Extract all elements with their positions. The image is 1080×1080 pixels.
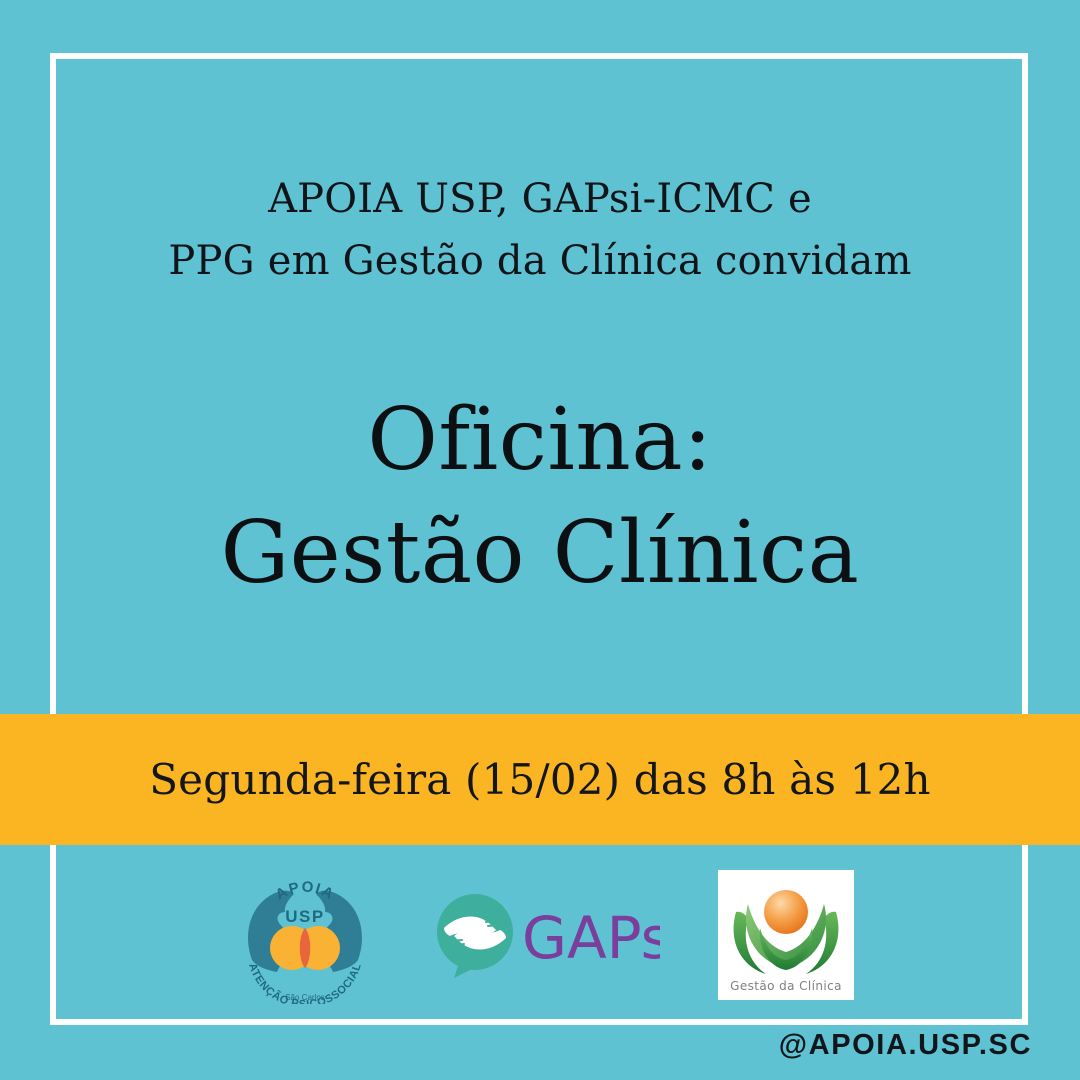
title-line-2: Gestão Clínica	[0, 494, 1080, 612]
gestao-caption-text: Gestão da Clínica	[730, 979, 842, 993]
gapsi-logo: GAPsi	[430, 888, 660, 980]
gapsi-wordmark-text: GAPsi	[522, 904, 660, 972]
social-handle: @APOIA.USP.SC	[779, 1029, 1032, 1062]
apoia-location-text: São Carlos	[285, 993, 325, 1002]
date-time-text: Segunda-feira (15/02) das 8h às 12h	[149, 755, 931, 804]
header-block: APOIA USP, GAPsi-ICMC e PPG em Gestão da…	[0, 168, 1080, 292]
svg-text:APOIA: APOIA	[273, 878, 338, 903]
title-line-1: Oficina:	[0, 386, 1080, 494]
page-title: Oficina: Gestão Clínica	[0, 386, 1080, 612]
gestao-da-clinica-logo: Gestão da Clínica	[718, 870, 854, 1000]
date-time-banner: Segunda-feira (15/02) das 8h às 12h	[0, 714, 1080, 845]
usp-text: USP	[285, 907, 324, 926]
header-line-2: PPG em Gestão da Clínica convidam	[0, 230, 1080, 292]
logo-row: APOIA USP ATENÇÃO PSICOSSOCIAL São Carlo…	[0, 862, 1080, 1012]
apoia-arc-text: APOIA	[273, 878, 338, 903]
header-line-1: APOIA USP, GAPsi-ICMC e	[0, 168, 1080, 230]
apoia-usp-logo: APOIA USP ATENÇÃO PSICOSSOCIAL São Carlo…	[236, 864, 374, 1004]
poster-canvas: APOIA USP, GAPsi-ICMC e PPG em Gestão da…	[0, 0, 1080, 1080]
